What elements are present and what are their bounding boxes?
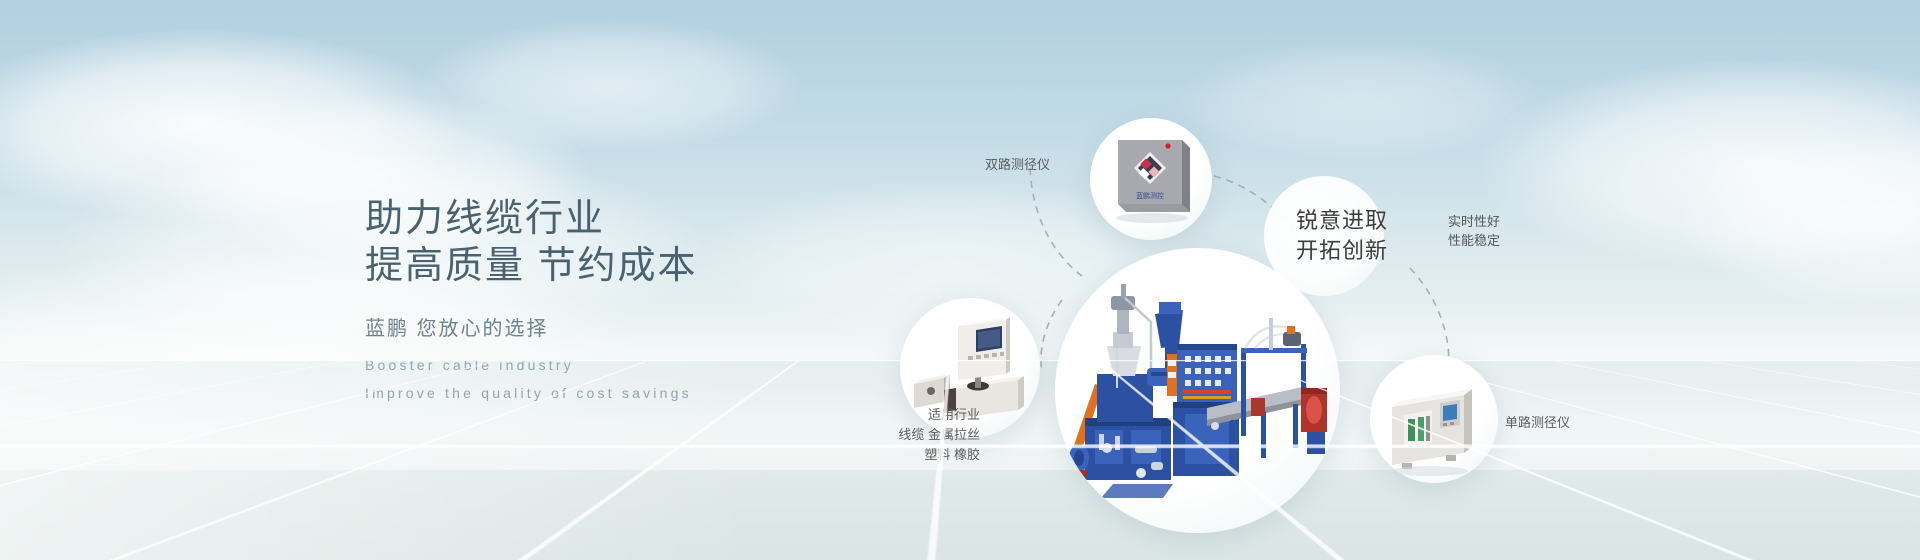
- label-performance-line-2: 性能稳定: [1448, 231, 1500, 250]
- label-industry-title: 适用行业: [830, 405, 980, 425]
- headline-line-2: 提高质量 节约成本: [365, 243, 698, 290]
- slogan-block: 锐意进取 开拓创新: [1296, 206, 1426, 266]
- headline-english-1: Booster cable industry: [365, 357, 698, 373]
- headline-line-1: 助力线缆行业: [365, 196, 698, 243]
- headline-english-2: Improve the quality of cost savings: [365, 385, 698, 401]
- extrusion-production-line-icon: [1055, 248, 1340, 533]
- slogan-line-1: 锐意进取: [1296, 206, 1426, 236]
- bubble-extrusion-line: [1055, 248, 1340, 533]
- bubble-dual-gauge: 蓝鹏测控: [1090, 118, 1212, 240]
- label-industries: 适用行业 线缆 金属拉丝 塑料 橡胶: [830, 405, 980, 465]
- label-industry-line-1: 线缆 金属拉丝: [830, 425, 980, 445]
- label-performance: 实时性好 性能稳定: [1448, 212, 1500, 250]
- cloud-decoration: [1480, 60, 1920, 270]
- label-dual-gauge: 双路测径仪: [985, 155, 1050, 174]
- single-gauge-device-icon: [1370, 355, 1498, 483]
- hero-banner: 助力线缆行业 提高质量 节约成本 蓝鹏 您放心的选择 Booster cable…: [0, 0, 1920, 560]
- dual-gauge-device-icon: 蓝鹏测控: [1090, 118, 1212, 240]
- cloud-decoration: [420, 20, 800, 150]
- cloud-decoration: [0, 30, 460, 220]
- device-brand-text: 蓝鹏测控: [1136, 191, 1164, 200]
- cloud-decoration: [1180, 40, 1540, 160]
- connector-arcs: [0, 0, 1920, 560]
- label-performance-line-1: 实时性好: [1448, 212, 1500, 231]
- headline-subtitle: 蓝鹏 您放心的选择: [365, 312, 698, 341]
- cloud-decoration: [1680, 130, 1920, 310]
- headline-block: 助力线缆行业 提高质量 节约成本 蓝鹏 您放心的选择 Booster cable…: [365, 196, 698, 401]
- label-single-gauge: 单路测径仪: [1505, 413, 1570, 432]
- bubble-single-gauge: [1370, 355, 1498, 483]
- slogan-line-2: 开拓创新: [1296, 236, 1426, 266]
- label-industry-line-2: 塑料 橡胶: [830, 445, 980, 465]
- arc-top-left: [1030, 168, 1082, 276]
